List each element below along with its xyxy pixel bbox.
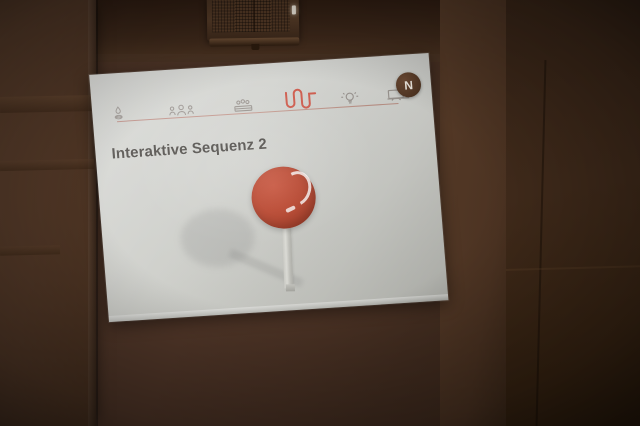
wall-molding-lower: [0, 245, 60, 255]
slide-content: N Interaktive Sequenz 2: [89, 53, 448, 322]
projector-status-led: [292, 5, 296, 14]
lollipop-pin-graphic: [175, 161, 376, 313]
projector-mount: [251, 44, 259, 50]
timeline-line: [117, 103, 399, 123]
ceiling-projector-unit: [207, 0, 300, 41]
slide-timeline: N: [105, 80, 419, 134]
timeline-step-squiggle[interactable]: [281, 86, 323, 114]
lightbulb-icon: [337, 89, 362, 106]
wall-pillar-right: [440, 0, 506, 426]
group-people-icon: [168, 102, 195, 118]
timeline-step-campfire[interactable]: [110, 105, 127, 122]
campfire-icon: [110, 105, 127, 122]
lollipop-stick-tip: [286, 284, 295, 291]
timeline-end-badge-label: N: [404, 78, 413, 92]
projector-grille: [212, 0, 290, 33]
workshop-icon: [232, 97, 255, 113]
timeline-step-group-people[interactable]: [168, 102, 195, 118]
slide-title: Interaktive Sequenz 2: [111, 136, 268, 163]
squiggle-icon: [281, 86, 323, 114]
projected-slide-surface: N Interaktive Sequenz 2: [89, 53, 448, 322]
timeline-step-workshop[interactable]: [232, 97, 255, 113]
photo-scene: N Interaktive Sequenz 2: [0, 0, 640, 426]
projection-screen: N Interaktive Sequenz 2: [67, 47, 458, 360]
timeline-step-lightbulb[interactable]: [337, 89, 362, 106]
